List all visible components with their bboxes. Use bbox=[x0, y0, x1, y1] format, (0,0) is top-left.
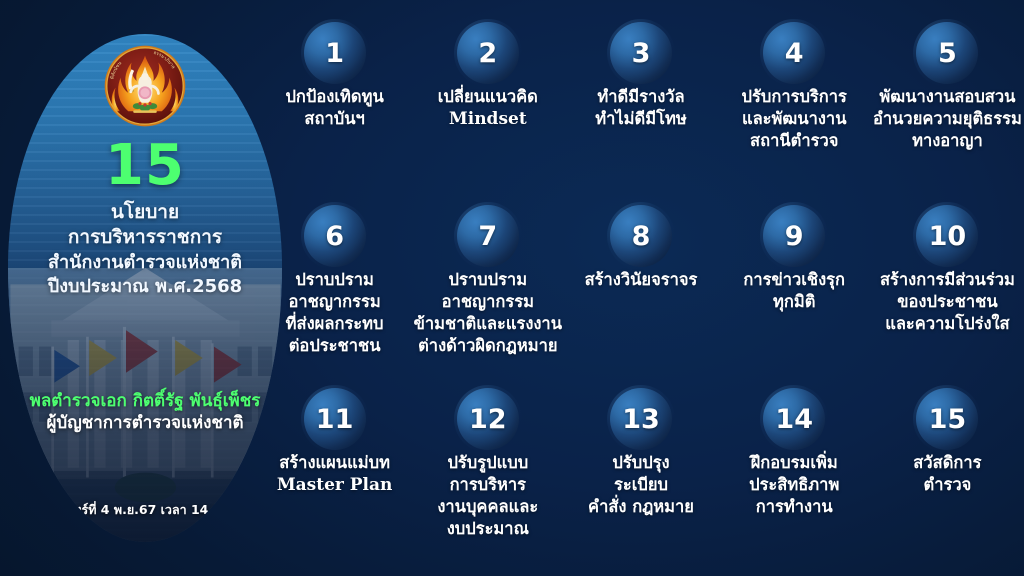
policy-number: 10 bbox=[929, 223, 967, 250]
policy-label-line: ที่ส่งผลกระทบ bbox=[260, 313, 409, 335]
policy-number-circle: 11 bbox=[304, 388, 366, 450]
policy-number-circle: 14 bbox=[763, 388, 825, 450]
policy-label-line: การบริหาร bbox=[413, 474, 562, 496]
policy-item-10[interactable]: 10สร้างการมีส่วนร่วมของประชาชนและความโปร… bbox=[871, 205, 1024, 357]
policy-number-circle: 4 bbox=[763, 22, 825, 84]
policy-number: 2 bbox=[478, 40, 497, 67]
policy-number: 1 bbox=[325, 40, 344, 67]
policy-number-circle: 13 bbox=[610, 388, 672, 450]
policy-number-circle: 12 bbox=[457, 388, 519, 450]
policy-number: 8 bbox=[632, 223, 651, 250]
policy-label-line: Master Plan bbox=[260, 474, 409, 497]
policy-number-circle: 9 bbox=[763, 205, 825, 267]
policy-item-1[interactable]: 1ปกป้องเทิดทูนสถาบันฯ bbox=[258, 22, 411, 152]
policy-number: 3 bbox=[632, 40, 651, 67]
left-title-panel: พิทักษ์ชน ธรรมาภิบาล 15 นโยบาย การบริหาร… bbox=[8, 34, 282, 542]
policy-row-2: 6ปราบปรามอาชญากรรมที่ส่งผลกระทบต่อประชาช… bbox=[258, 205, 1024, 357]
policy-label-line: ปรับรูปแบบ bbox=[413, 452, 562, 474]
policy-item-14[interactable]: 14ฝึกอบรมเพิ่มประสิทธิภาพการทำงาน bbox=[718, 388, 871, 540]
policy-label-line: อำนวยความยุติธรรม bbox=[873, 108, 1022, 130]
policy-label: ปรับปรุงระเบียบคำสั่ง กฎหมาย bbox=[564, 452, 717, 518]
panel-title-line-1: นโยบาย bbox=[14, 200, 276, 225]
policy-number: 15 bbox=[929, 406, 967, 433]
policy-label-line: และพัฒนางาน bbox=[720, 108, 869, 130]
policy-label-line: งานบุคคลและ bbox=[413, 496, 562, 518]
policy-item-7[interactable]: 7ปราบปรามอาชญากรรมข้ามชาติและแรงงานต่างด… bbox=[411, 205, 564, 357]
policy-number-circle: 3 bbox=[610, 22, 672, 84]
policy-number-circle: 5 bbox=[916, 22, 978, 84]
policy-row-1: 1ปกป้องเทิดทูนสถาบันฯ2เปลี่ยนแนวคิดMinds… bbox=[258, 22, 1024, 152]
policy-label-line: และความโปร่งใส bbox=[873, 313, 1022, 335]
policy-number: 9 bbox=[785, 223, 804, 250]
policy-label-line: คำสั่ง กฎหมาย bbox=[566, 496, 715, 518]
infographic-poster: พิทักษ์ชน ธรรมาภิบาล 15 นโยบาย การบริหาร… bbox=[0, 0, 1024, 576]
commissioner-role: ผู้บัญชาการตำรวจแห่งชาติ bbox=[8, 412, 282, 435]
policy-item-4[interactable]: 4ปรับการบริการและพัฒนางานสถานีตำรวจ bbox=[718, 22, 871, 152]
panel-title-line-4: ปีงบประมาณ พ.ศ.2568 bbox=[14, 275, 276, 299]
policy-label-line: ประสิทธิภาพ bbox=[720, 474, 869, 496]
policy-label-line: ทุกมิติ bbox=[720, 291, 869, 313]
policy-label-line: สวัสดิการ bbox=[873, 452, 1022, 474]
policy-label-line: ปรับปรุง bbox=[566, 452, 715, 474]
policy-label-line: ระเบียบ bbox=[566, 474, 715, 496]
policy-label-line: ปกป้องเทิดทูน bbox=[260, 86, 409, 108]
policy-number: 13 bbox=[622, 406, 660, 433]
policy-row-3: 11สร้างแผนแม่บทMaster Plan12ปรับรูปแบบกา… bbox=[258, 388, 1024, 540]
policy-label-line: งบประมาณ bbox=[413, 518, 562, 540]
policy-label: สร้างวินัยจราจร bbox=[564, 269, 717, 291]
policy-number: 4 bbox=[785, 40, 804, 67]
policy-count: 15 bbox=[14, 138, 276, 194]
policy-label: ปรับรูปแบบการบริหารงานบุคคลและงบประมาณ bbox=[411, 452, 564, 540]
policy-label: สร้างแผนแม่บทMaster Plan bbox=[258, 452, 411, 497]
policy-label-line: ทำดีมีรางวัล bbox=[566, 86, 715, 108]
policy-label-line: ฝึกอบรมเพิ่ม bbox=[720, 452, 869, 474]
policy-item-9[interactable]: 9การข่าวเชิงรุกทุกมิติ bbox=[718, 205, 871, 357]
policy-label-line: สร้างแผนแม่บท bbox=[260, 452, 409, 474]
policy-label: การข่าวเชิงรุกทุกมิติ bbox=[718, 269, 871, 313]
policy-number-circle: 1 bbox=[304, 22, 366, 84]
policy-label-line: ของประชาชน bbox=[873, 291, 1022, 313]
panel-title-line-2: การบริหารราชการ bbox=[14, 225, 276, 250]
policy-grid: 1ปกป้องเทิดทูนสถาบันฯ2เปลี่ยนแนวคิดMinds… bbox=[258, 0, 1024, 576]
policy-number-circle: 2 bbox=[457, 22, 519, 84]
policy-label-line: ทางอาญา bbox=[873, 130, 1022, 152]
policy-label-line: ปราบปราม bbox=[413, 269, 562, 291]
policy-item-13[interactable]: 13ปรับปรุงระเบียบคำสั่ง กฎหมาย bbox=[564, 388, 717, 540]
policy-item-5[interactable]: 5พัฒนางานสอบสวนอำนวยความยุติธรรมทางอาญา bbox=[871, 22, 1024, 152]
policy-label: พัฒนางานสอบสวนอำนวยความยุติธรรมทางอาญา bbox=[871, 86, 1024, 152]
policy-label-line: ข้ามชาติและแรงงาน bbox=[413, 313, 562, 335]
policy-number-circle: 6 bbox=[304, 205, 366, 267]
policy-label: ทำดีมีรางวัลทำไม่ดีมีโทษ bbox=[564, 86, 717, 130]
panel-title-block: 15 นโยบาย การบริหารราชการ สำนักงานตำรวจแ… bbox=[8, 138, 282, 299]
policy-number-circle: 8 bbox=[610, 205, 672, 267]
policy-label-line: ตำรวจ bbox=[873, 474, 1022, 496]
policy-number: 14 bbox=[775, 406, 813, 433]
policy-label-line: สถานีตำรวจ bbox=[720, 130, 869, 152]
royal-thai-police-emblem-icon: พิทักษ์ชน ธรรมาภิบาล bbox=[103, 44, 187, 128]
commissioner-block: พลตำรวจเอก กิตติ์รัฐ พันธุ์เพ็ชร ผู้บัญช… bbox=[8, 390, 282, 435]
policy-label-line: ทำไม่ดีมีโทษ bbox=[566, 108, 715, 130]
policy-number: 11 bbox=[316, 406, 354, 433]
policy-label: สร้างการมีส่วนร่วมของประชาชนและความโปร่ง… bbox=[871, 269, 1024, 335]
policy-label-line: พัฒนางานสอบสวน bbox=[873, 86, 1022, 108]
policy-label-line: อาชญากรรม bbox=[413, 291, 562, 313]
policy-label-line: อาชญากรรม bbox=[260, 291, 409, 313]
policy-item-2[interactable]: 2เปลี่ยนแนวคิดMindset bbox=[411, 22, 564, 152]
policy-number: 6 bbox=[325, 223, 344, 250]
policy-number: 12 bbox=[469, 406, 507, 433]
policy-label-line: การข่าวเชิงรุก bbox=[720, 269, 869, 291]
policy-label-line: สร้างวินัยจราจร bbox=[566, 269, 715, 291]
policy-item-12[interactable]: 12ปรับรูปแบบการบริหารงานบุคคลและงบประมาณ bbox=[411, 388, 564, 540]
policy-label-line: สร้างการมีส่วนร่วม bbox=[873, 269, 1022, 291]
policy-label-line: Mindset bbox=[413, 108, 562, 131]
policy-label-line: การทำงาน bbox=[720, 496, 869, 518]
policy-number: 7 bbox=[478, 223, 497, 250]
policy-number: 5 bbox=[938, 40, 957, 67]
policy-label-line: ปราบปราม bbox=[260, 269, 409, 291]
policy-label-line: สถาบันฯ bbox=[260, 108, 409, 130]
policy-label-line: ต่างด้าวผิดกฎหมาย bbox=[413, 335, 562, 357]
policy-label-line: เปลี่ยนแนวคิด bbox=[413, 86, 562, 108]
policy-item-3[interactable]: 3ทำดีมีรางวัลทำไม่ดีมีโทษ bbox=[564, 22, 717, 152]
policy-label: ปราบปรามอาชญากรรมข้ามชาติและแรงงานต่างด้… bbox=[411, 269, 564, 357]
policy-label-line: ปรับการบริการ bbox=[720, 86, 869, 108]
policy-label: ปรับการบริการและพัฒนางานสถานีตำรวจ bbox=[718, 86, 871, 152]
policy-item-15[interactable]: 15สวัสดิการตำรวจ bbox=[871, 388, 1024, 540]
policy-number-circle: 15 bbox=[916, 388, 978, 450]
policy-label: ปกป้องเทิดทูนสถาบันฯ bbox=[258, 86, 411, 130]
event-date: วันจันทร์ที่ 4 พ.ย.67 เวลา 14.00 น. bbox=[8, 500, 282, 520]
commissioner-name: พลตำรวจเอก กิตติ์รัฐ พันธุ์เพ็ชร bbox=[8, 390, 282, 412]
panel-title-line-3: สำนักงานตำรวจแห่งชาติ bbox=[14, 251, 276, 275]
policy-label-line: ต่อประชาชน bbox=[260, 335, 409, 357]
policy-item-8[interactable]: 8สร้างวินัยจราจร bbox=[564, 205, 717, 357]
policy-number-circle: 10 bbox=[916, 205, 978, 267]
policy-label: สวัสดิการตำรวจ bbox=[871, 452, 1024, 496]
policy-label: ฝึกอบรมเพิ่มประสิทธิภาพการทำงาน bbox=[718, 452, 871, 518]
policy-label: เปลี่ยนแนวคิดMindset bbox=[411, 86, 564, 131]
policy-number-circle: 7 bbox=[457, 205, 519, 267]
